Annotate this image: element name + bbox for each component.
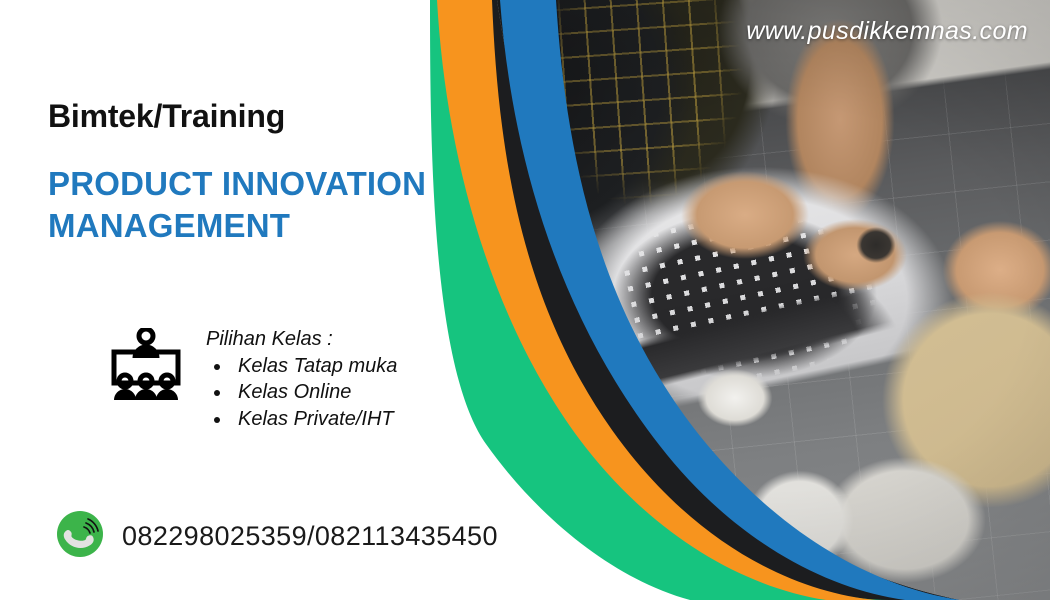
class-options-list: Kelas Tatap muka Kelas Online Kelas Priv…	[206, 353, 397, 432]
class-options-text: Pilihan Kelas : Kelas Tatap muka Kelas O…	[206, 328, 397, 432]
class-options-block: Pilihan Kelas : Kelas Tatap muka Kelas O…	[108, 328, 397, 432]
list-item: Kelas Online	[232, 379, 397, 405]
phone-number: 082298025359/082113435450	[122, 521, 498, 552]
class-options-title: Pilihan Kelas :	[206, 328, 397, 351]
website-url[interactable]: www.pusdikkemnas.com	[746, 17, 1028, 46]
training-classroom-icon	[108, 328, 184, 407]
contact-block[interactable]: 082298025359/082113435450	[56, 510, 498, 563]
phone-call-icon	[56, 510, 104, 563]
page-title: PRODUCT INNOVATION MANAGEMENT	[48, 163, 478, 247]
list-item: Kelas Private/IHT	[232, 406, 397, 432]
kicker-text: Bimtek/Training	[48, 98, 285, 135]
list-item: Kelas Tatap muka	[232, 353, 397, 379]
promotional-banner: Bimtek/Training PRODUCT INNOVATION MANAG…	[0, 0, 1050, 600]
